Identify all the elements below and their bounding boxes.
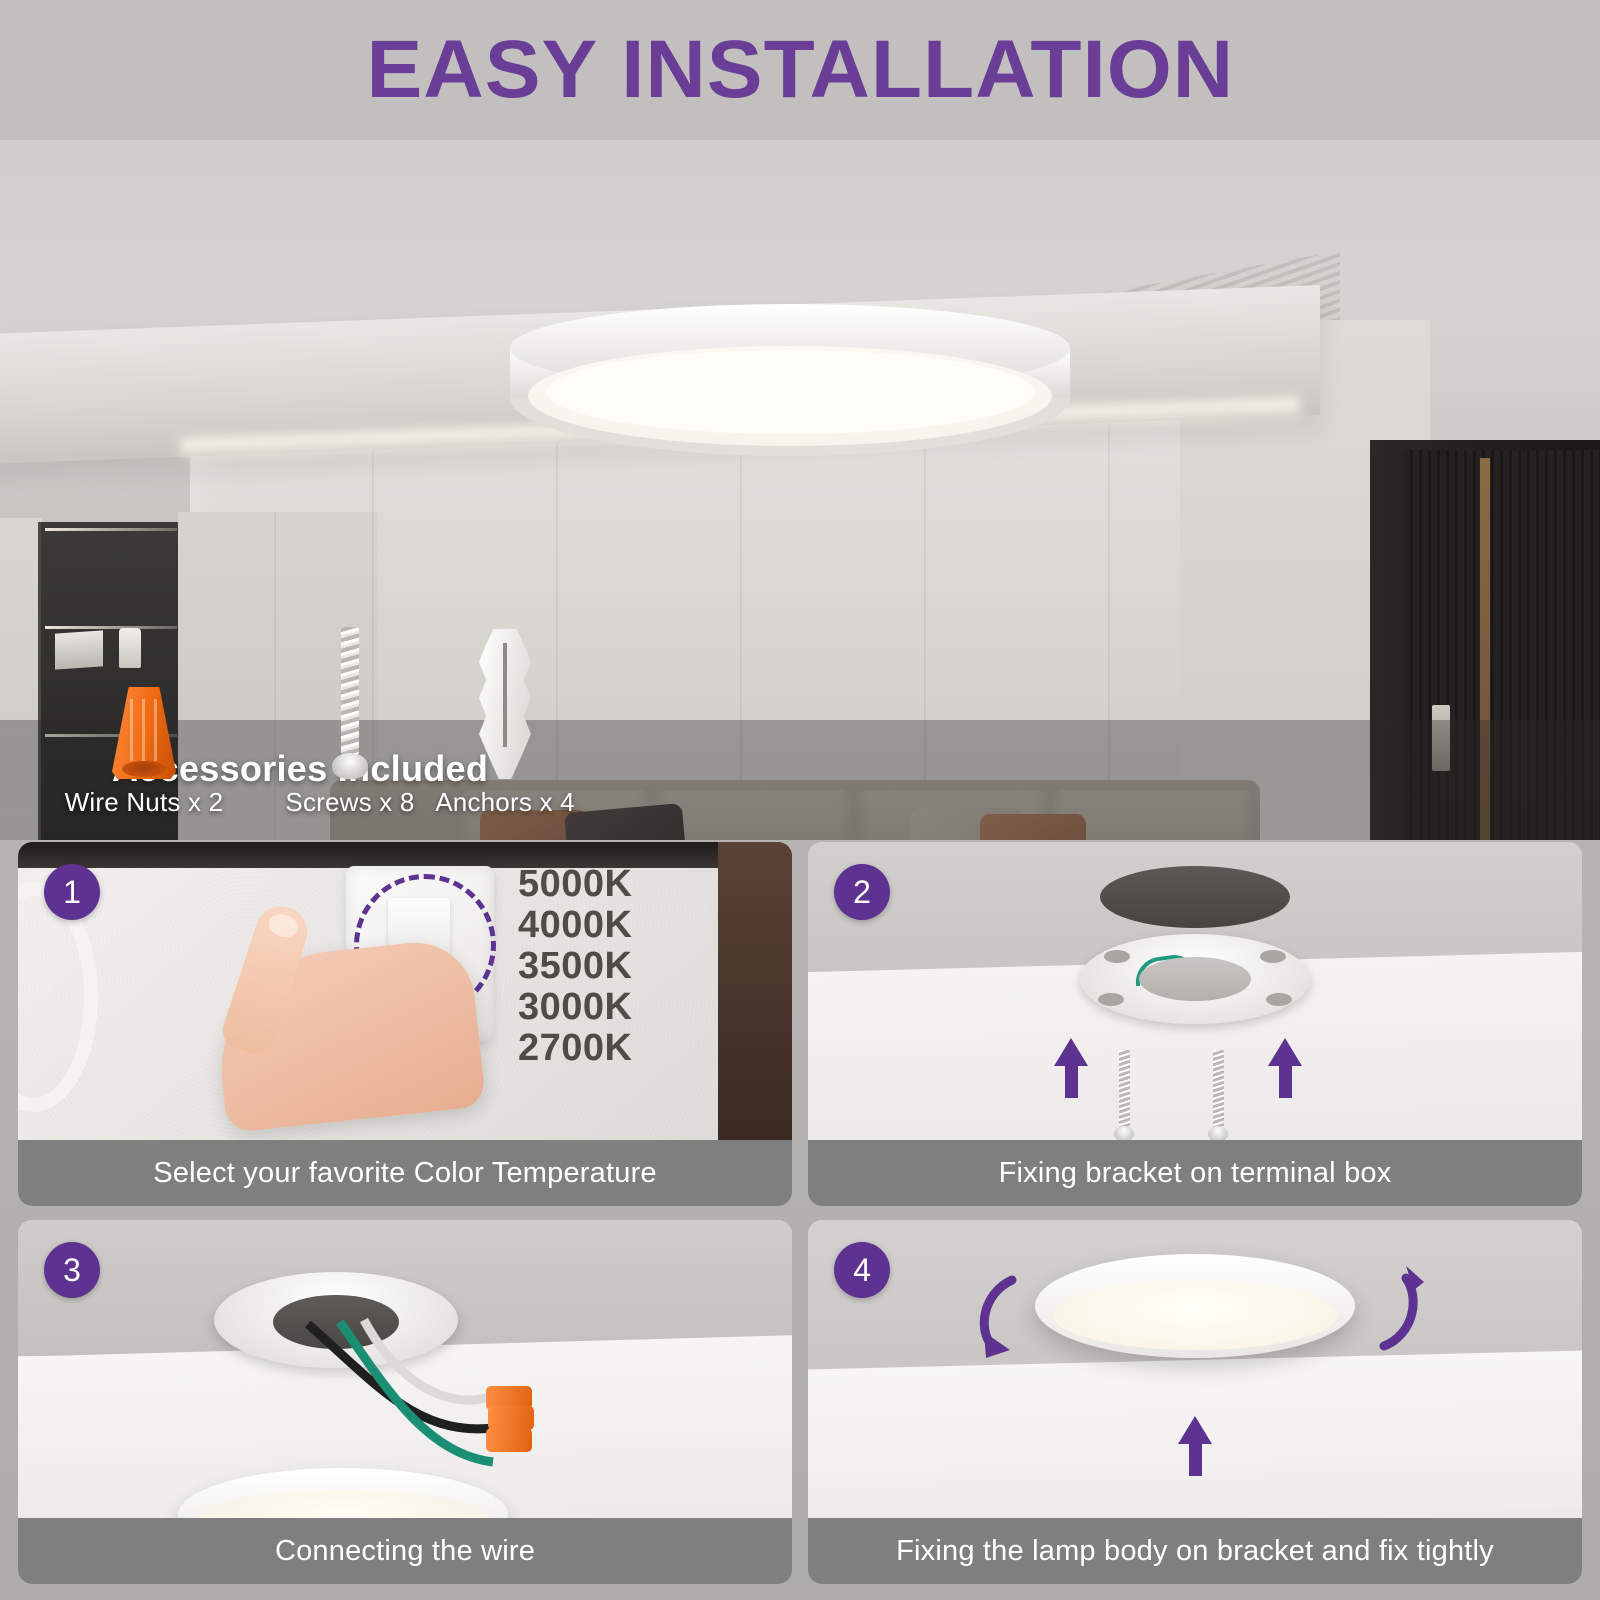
mounting-screw-icon xyxy=(1114,1050,1134,1140)
step-panel-1[interactable]: 1 5000K 4000K 3500K 3000K 2700K xyxy=(18,842,792,1206)
color-temp-option: 4000K xyxy=(518,905,632,946)
step-number-badge: 3 xyxy=(44,1242,100,1298)
up-arrow-icon xyxy=(1054,1038,1088,1098)
hero-room-scene: Accessories Included Wire Nuts x 2 Screw… xyxy=(0,140,1600,840)
page-title: EASY INSTALLATION xyxy=(366,23,1234,117)
ground-wire xyxy=(1133,952,1200,987)
wire-nut-icon xyxy=(488,1406,534,1430)
ceiling-light-product xyxy=(505,300,1075,460)
shelf-books xyxy=(55,630,103,669)
up-arrow-icon xyxy=(1178,1416,1212,1476)
step-caption: Fixing the lamp body on bracket and fix … xyxy=(808,1518,1582,1584)
step-2-illustration xyxy=(808,842,1582,1140)
rotate-arrow-left-icon xyxy=(966,1272,1036,1362)
step-number-badge: 2 xyxy=(834,864,890,920)
step-1-illustration: 5000K 4000K 3500K 3000K 2700K xyxy=(18,842,792,1140)
step-number-badge: 4 xyxy=(834,1242,890,1298)
step-caption: Connecting the wire xyxy=(18,1518,792,1584)
mounting-screw-icon xyxy=(1208,1050,1228,1140)
step-caption: Select your favorite Color Temperature xyxy=(18,1140,792,1206)
step-panel-2[interactable]: 2 xyxy=(808,842,1582,1206)
color-temperature-list: 5000K 4000K 3500K 3000K 2700K xyxy=(518,864,632,1069)
accessory-label: Wire Nuts x 2 xyxy=(44,787,244,818)
color-temp-option: 2700K xyxy=(518,1028,632,1069)
mounting-bracket xyxy=(1080,934,1310,1024)
step-3-illustration xyxy=(18,1220,792,1518)
color-temp-option: 5000K xyxy=(518,864,632,905)
step-number-badge: 1 xyxy=(44,864,100,920)
accessory-wire-nuts: Wire Nuts x 2 xyxy=(44,687,244,818)
accessory-anchors: Anchors x 4 xyxy=(395,629,615,818)
step-panel-4[interactable]: 4 xyxy=(808,1220,1582,1584)
accessory-label: Anchors x 4 xyxy=(395,787,615,818)
junction-box-cover xyxy=(1100,866,1290,928)
up-arrow-icon xyxy=(1268,1038,1302,1098)
screw-icon xyxy=(333,627,367,779)
infographic-page: EASY INSTALLATION xyxy=(0,0,1600,1600)
wire-nut-icon xyxy=(112,687,176,779)
title-bar: EASY INSTALLATION xyxy=(0,0,1600,140)
anchor-icon xyxy=(479,629,531,779)
lamp-body xyxy=(1035,1254,1355,1358)
lamp-body xyxy=(178,1468,508,1518)
rotate-arrow-right-icon xyxy=(1362,1264,1432,1354)
shelf-vase xyxy=(119,628,141,668)
step-panel-3[interactable]: 3 Connecting the wire xyxy=(18,1220,792,1584)
wire-nut-icon xyxy=(486,1428,532,1452)
color-temp-option: 3500K xyxy=(518,946,632,987)
step-caption: Fixing bracket on terminal box xyxy=(808,1140,1582,1206)
step-4-illustration xyxy=(808,1220,1582,1518)
color-temp-option: 3000K xyxy=(518,987,632,1028)
installation-steps-grid: 1 5000K 4000K 3500K 3000K 2700K xyxy=(18,842,1582,1584)
